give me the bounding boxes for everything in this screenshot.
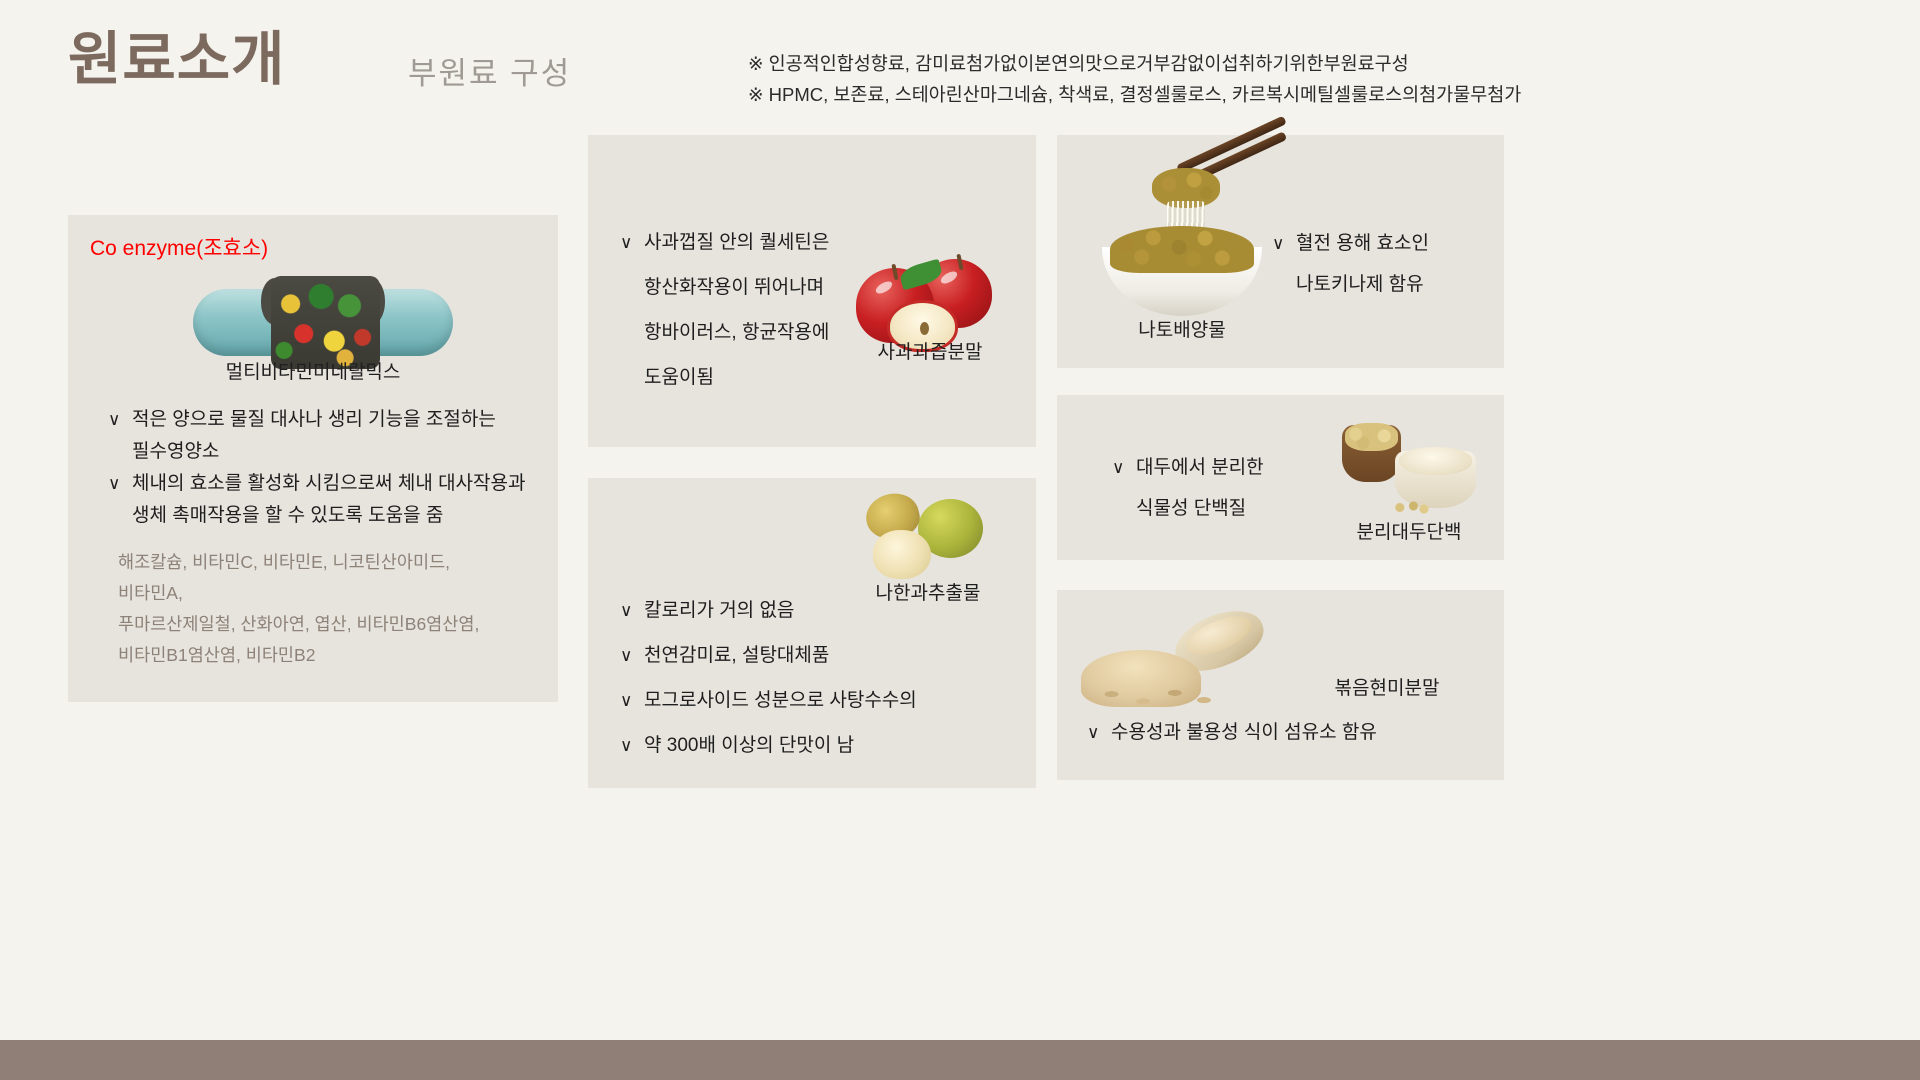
monk-fruit-image bbox=[863, 488, 988, 583]
card-soy-protein: ∨ 대두에서 분리한 식물성 단백질 분리대두단백 bbox=[1057, 395, 1504, 560]
list-item: 식물성 단백질 bbox=[1112, 488, 1342, 529]
list-item-label: 혈전 용해 효소인 bbox=[1296, 223, 1497, 264]
list-item: 필수영양소 bbox=[108, 437, 538, 467]
header-notes: ※ 인공적인합성향료, 감미료첨가없이본연의맛으로거부감없이섭취하기위한부원료구… bbox=[748, 48, 1521, 110]
soy-protein-bullet-list: ∨ 대두에서 분리한 식물성 단백질 bbox=[1112, 447, 1342, 529]
list-item: ∨ 칼로리가 거의 없음 bbox=[620, 588, 1020, 633]
card-natto: 나토배양물 ∨ 혈전 용해 효소인 나토키나제 함유 bbox=[1057, 135, 1504, 368]
list-item: ∨ 혈전 용해 효소인 bbox=[1272, 223, 1497, 264]
natto-bowl-image bbox=[1087, 143, 1277, 323]
ingredient-line: 비타민B1염산염, 비타민B2 bbox=[118, 640, 538, 671]
apple-caption: 사과과즙분말 bbox=[840, 337, 1020, 364]
ingredient-line: 푸마르산제일철, 산화아연, 엽산, 비타민B6염산염, bbox=[118, 609, 538, 640]
list-item-label: 천연감미료, 설탕대체품 bbox=[644, 633, 1020, 678]
brown-rice-bullet-list: ∨ 수용성과 불용성 식이 섬유소 함유 bbox=[1087, 718, 1497, 748]
monk-fruit-bullet-list: ∨ 칼로리가 거의 없음 ∨ 천연감미료, 설탕대체품 ∨ 모그로사이드 성분으… bbox=[620, 588, 1020, 768]
list-item-label: 모그로사이드 성분으로 사탕수수의 bbox=[644, 678, 1020, 723]
list-item: 도움이됨 bbox=[620, 355, 850, 400]
list-item-label: 도움이됨 bbox=[644, 355, 850, 400]
page-title: 원료소개 bbox=[68, 12, 285, 96]
page-subtitle: 부원료 구성 bbox=[408, 48, 571, 93]
check-marker-icon: ∨ bbox=[108, 405, 132, 435]
list-item: ∨ 체내의 효소를 활성화 시킴으로써 체내 대사작용과 bbox=[108, 469, 538, 499]
brown-rice-caption: 볶음현미분말 bbox=[1287, 673, 1487, 700]
check-marker-icon: ∨ bbox=[108, 469, 132, 499]
list-item-label: 필수영양소 bbox=[132, 437, 538, 467]
list-item-label: 생체 촉매작용을 할 수 있도록 도움을 줌 bbox=[132, 501, 538, 531]
coenzyme-bullet-list: ∨ 적은 양으로 물질 대사나 생리 기능을 조절하는 필수영양소 ∨ 체내의 … bbox=[108, 405, 538, 533]
check-marker-icon: ∨ bbox=[620, 633, 644, 678]
list-item-label: 칼로리가 거의 없음 bbox=[644, 588, 1020, 633]
check-marker-icon: ∨ bbox=[620, 678, 644, 723]
roasted-brown-rice-powder-image bbox=[1077, 608, 1277, 718]
card-apple: ∨ 사과껍질 안의 퀄세틴은 항산화작용이 뛰어나며 항바이러스, 항균작용에 … bbox=[588, 135, 1036, 447]
list-item-label: 식물성 단백질 bbox=[1136, 488, 1342, 529]
check-marker-icon: ∨ bbox=[1272, 223, 1296, 264]
list-item: ∨ 모그로사이드 성분으로 사탕수수의 bbox=[620, 678, 1020, 723]
list-item-label: 수용성과 불용성 식이 섬유소 함유 bbox=[1111, 718, 1497, 748]
ingredient-line: 해조칼슘, 비타민C, 비타민E, 니코틴산아미드, bbox=[118, 547, 538, 578]
list-item: ∨ 수용성과 불용성 식이 섬유소 함유 bbox=[1087, 718, 1497, 748]
list-item-label: 나토키나제 함유 bbox=[1296, 264, 1497, 305]
check-marker-icon: ∨ bbox=[1087, 718, 1111, 748]
coenzyme-title: Co enzyme(조효소) bbox=[90, 232, 268, 262]
check-marker-icon: ∨ bbox=[620, 588, 644, 633]
list-item-label: 항산화작용이 뛰어나며 bbox=[644, 265, 850, 310]
soy-protein-image bbox=[1339, 405, 1479, 515]
list-item-label: 대두에서 분리한 bbox=[1136, 447, 1342, 488]
list-item: 나토키나제 함유 bbox=[1272, 264, 1497, 305]
slide-root: 원료소개 부원료 구성 ※ 인공적인합성향료, 감미료첨가없이본연의맛으로거부감… bbox=[0, 0, 1920, 1080]
list-item: 생체 촉매작용을 할 수 있도록 도움을 줌 bbox=[108, 501, 538, 531]
header-note-1: ※ 인공적인합성향료, 감미료첨가없이본연의맛으로거부감없이섭취하기위한부원료구… bbox=[748, 48, 1521, 79]
header-note-2: ※ HPMC, 보존료, 스테아린산마그네슘, 착색료, 결정셀룰로스, 카르복… bbox=[748, 79, 1521, 110]
list-item-label: 사과껍질 안의 퀄세틴은 bbox=[644, 220, 850, 265]
list-item-label: 체내의 효소를 활성화 시킴으로써 체내 대사작용과 bbox=[132, 469, 538, 499]
card-brown-rice: 볶음현미분말 ∨ 수용성과 불용성 식이 섬유소 함유 bbox=[1057, 590, 1504, 780]
check-marker-icon: ∨ bbox=[620, 723, 644, 768]
bottom-accent-bar bbox=[0, 1040, 1920, 1080]
list-item: 항산화작용이 뛰어나며 bbox=[620, 265, 850, 310]
list-item: ∨ 약 300배 이상의 단맛이 남 bbox=[620, 723, 1020, 768]
list-item: ∨ 적은 양으로 물질 대사나 생리 기능을 조절하는 bbox=[108, 405, 538, 435]
check-marker-icon: ∨ bbox=[1112, 447, 1136, 488]
list-item-label: 약 300배 이상의 단맛이 남 bbox=[644, 723, 1020, 768]
soy-protein-caption: 분리대두단백 bbox=[1319, 517, 1499, 544]
natto-caption: 나토배양물 bbox=[1077, 315, 1287, 342]
list-item-label: 항바이러스, 항균작용에 bbox=[644, 310, 850, 355]
list-item: ∨ 사과껍질 안의 퀄세틴은 bbox=[620, 220, 850, 265]
list-item: ∨ 대두에서 분리한 bbox=[1112, 447, 1342, 488]
coenzyme-ingredient-list: 해조칼슘, 비타민C, 비타민E, 니코틴산아미드, 비타민A, 푸마르산제일철… bbox=[118, 547, 538, 671]
card-monk-fruit: 나한과추출물 ∨ 칼로리가 거의 없음 ∨ 천연감미료, 설탕대체품 ∨ 모그로… bbox=[588, 478, 1036, 788]
apple-bullet-list: ∨ 사과껍질 안의 퀄세틴은 항산화작용이 뛰어나며 항바이러스, 항균작용에 … bbox=[620, 220, 850, 400]
coenzyme-caption: 멀티비타민미네랄믹스 bbox=[68, 357, 558, 384]
card-coenzyme: Co enzyme(조효소) 멀티비타민미네랄믹스 ∨ 적은 양으로 물질 대사… bbox=[68, 215, 558, 702]
list-item: 항바이러스, 항균작용에 bbox=[620, 310, 850, 355]
list-item: ∨ 천연감미료, 설탕대체품 bbox=[620, 633, 1020, 678]
natto-bullet-list: ∨ 혈전 용해 효소인 나토키나제 함유 bbox=[1272, 223, 1497, 305]
ingredient-line: 비타민A, bbox=[118, 578, 538, 609]
check-marker-icon: ∨ bbox=[620, 220, 644, 265]
apple-image bbox=[853, 230, 1008, 350]
list-item-label: 적은 양으로 물질 대사나 생리 기능을 조절하는 bbox=[132, 405, 538, 435]
